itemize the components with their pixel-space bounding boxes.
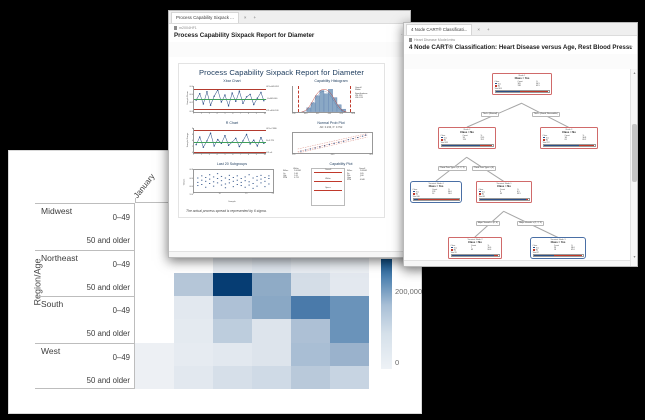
heatmap-cell-r7-c1[interactable] bbox=[174, 366, 213, 389]
legend-swatch-icon bbox=[533, 249, 536, 251]
heatmap-cell-r7-c5[interactable] bbox=[330, 366, 369, 389]
heatmap-cell-r5-c1[interactable] bbox=[174, 319, 213, 342]
heatmap-cell-r5-c5[interactable] bbox=[330, 319, 369, 342]
report-title: Process Capability Sixpack Report for Di… bbox=[179, 64, 384, 77]
minitab-report-body: Process Capability Sixpack Report for Di… bbox=[169, 57, 410, 257]
x-tick: 5 bbox=[224, 113, 225, 115]
heatmap-cell-r5-c2[interactable] bbox=[213, 319, 252, 342]
cart-node-table: ClassCount%Yes16554.5No13845.5 bbox=[495, 81, 550, 88]
close-icon[interactable]: × bbox=[242, 15, 249, 20]
chart-subtitle: AD: 0.233, P: 0.792 bbox=[283, 126, 379, 129]
x-tick: 595 bbox=[292, 154, 295, 156]
legend-swatch-icon bbox=[495, 85, 498, 87]
heatmap-cell-r7-c4[interactable] bbox=[291, 366, 330, 389]
heatmap-subrow-label: 0–49 bbox=[113, 306, 130, 315]
legend-swatch-icon bbox=[413, 193, 416, 195]
cart-node-bar bbox=[479, 198, 530, 201]
sixpack-report-card: Process Capability Sixpack Report for Di… bbox=[178, 63, 385, 218]
legend-swatch-icon bbox=[451, 249, 454, 251]
x-tick: 1 bbox=[193, 113, 194, 115]
center-line-label: R=3.729 bbox=[266, 140, 280, 142]
chart-plot-area bbox=[193, 86, 266, 113]
chart-title: Xbar Chart bbox=[184, 79, 280, 84]
heatmap-subrow-label: 50 and older bbox=[87, 236, 130, 245]
cart-node-bar bbox=[451, 254, 500, 257]
tab-process-capability[interactable]: Process Capability Sixpack ... bbox=[171, 12, 239, 23]
cart-classification-window[interactable]: 4 Node CART® Classificati... × + Heart D… bbox=[403, 22, 638, 267]
legend-swatch-icon bbox=[543, 139, 546, 141]
chart-capability-histogram: Capability Histogram bbox=[283, 79, 379, 118]
tab-cart-classification[interactable]: 4 Node CART® Classificati... bbox=[406, 24, 472, 35]
heatmap-column-header-january: January bbox=[132, 172, 157, 200]
scroll-up-icon[interactable]: ▴ bbox=[632, 70, 637, 75]
cart-node-table: ClassCount%Yes3630.8No8169.2 bbox=[543, 135, 596, 142]
vertical-scrollbar[interactable]: ▴ ▾ bbox=[630, 69, 637, 266]
legend-swatch-icon bbox=[533, 247, 536, 249]
heatmap-row-group: West 0–49 50 and older bbox=[35, 343, 134, 390]
x-tick: 8 bbox=[248, 113, 249, 115]
heatmap-row-label-axis: Midwest 0–49 50 and older Northeast 0–49… bbox=[35, 203, 135, 389]
scroll-down-icon[interactable]: ▾ bbox=[632, 254, 637, 259]
x-tick: 600 bbox=[304, 113, 307, 115]
cart-path-text: Heart Disease Model.mtw bbox=[414, 38, 455, 42]
report-footnote: The actual process spread is represented… bbox=[186, 209, 267, 213]
cart-node-table: ClassCount%Yes36.5No4393.5 bbox=[479, 189, 530, 196]
x-tick: 600 bbox=[331, 154, 334, 156]
chart-r-chart: R Chart Sample Range 8 6 4 2 0 bbox=[184, 121, 280, 160]
chart-title: R Chart bbox=[184, 121, 280, 126]
heatmap-subrow-label: 50 and older bbox=[87, 376, 130, 385]
ucl-label: UCL=7.880 bbox=[266, 128, 280, 130]
heatmap-cell-r3-c1[interactable] bbox=[174, 273, 213, 296]
heatmap-cell-r6-c0[interactable] bbox=[135, 343, 174, 366]
tab-label: Process Capability Sixpack ... bbox=[176, 15, 234, 20]
heatmap-color-legend: 200,000 0 bbox=[381, 259, 419, 369]
chart-xbar-chart: Xbar Chart Sample Mean 606 604 602 600 bbox=[184, 79, 280, 118]
cart-tree-canvas: Thal = (Normal)Thal = (Fixed, Reversible… bbox=[404, 69, 637, 266]
cart-edge-label: Thal = (Fixed, Reversible) bbox=[532, 112, 560, 117]
x-tick: 8 bbox=[248, 154, 249, 156]
heatmap-cell-r4-c0[interactable] bbox=[135, 296, 174, 319]
heatmap-row-group: South 0–49 50 and older bbox=[35, 296, 134, 343]
tab-label: 4 Node CART® Classificati... bbox=[411, 27, 467, 32]
heatmap-group-label: West bbox=[41, 346, 60, 356]
minitab-header-title: Process Capability Sixpack Report for Di… bbox=[174, 32, 405, 39]
heatmap-cell-r7-c3[interactable] bbox=[252, 366, 291, 389]
chart-plot-area bbox=[193, 128, 266, 155]
heatmap-cell-r4-c1[interactable] bbox=[174, 296, 213, 319]
legend-swatch-icon bbox=[495, 83, 498, 85]
heatmap-cell-r5-c4[interactable] bbox=[291, 319, 330, 342]
minitab-path-text: m2004HF1 bbox=[179, 26, 197, 30]
add-tab-icon[interactable]: + bbox=[251, 15, 258, 20]
cart-node-table: ClassCount%Yes12690.0No1410.0 bbox=[413, 189, 460, 196]
histogram-legend: Overall Within Specifications LSL 593 US… bbox=[355, 87, 379, 99]
cart-node-bar bbox=[543, 144, 596, 147]
heatmap-cell-r5-c0[interactable] bbox=[135, 319, 174, 342]
x-tick: 5 bbox=[224, 154, 225, 156]
overall-heading: Overall bbox=[312, 169, 344, 171]
scrollbar-thumb[interactable] bbox=[632, 124, 637, 182]
heatmap-cell-r5-c3[interactable] bbox=[252, 319, 291, 342]
x-tick: 4 bbox=[217, 154, 218, 156]
chart-x-ticks: 5 10 15 20 bbox=[193, 193, 274, 198]
chart-control-limits: UCL=7.880 R=3.729 LCL=0 bbox=[266, 128, 280, 155]
table-row: PPM0.711 bbox=[283, 177, 309, 179]
cart-node-root[interactable]: Node 1Class = YesClassCount%Yes16554.5No… bbox=[492, 73, 552, 95]
horizontal-scrollbar[interactable] bbox=[169, 251, 403, 257]
document-icon bbox=[409, 38, 412, 42]
chart-title: Capability Plot bbox=[303, 162, 379, 167]
cart-edge-label: Major Vessels = (0, 4) bbox=[476, 221, 501, 226]
x-tick: 2 bbox=[201, 113, 202, 115]
x-tick: 15 bbox=[245, 193, 247, 195]
cart-worksheet-path: Heart Disease Model.mtw bbox=[409, 38, 632, 42]
capability-plot-area: Overall Within Specs bbox=[311, 168, 345, 206]
x-tick: 10 bbox=[264, 113, 266, 115]
probplot-series bbox=[293, 133, 372, 154]
heatmap-group-label: South bbox=[41, 299, 63, 309]
sixpack-chart-grid: Xbar Chart Sample Mean 606 604 602 600 bbox=[184, 79, 379, 201]
histogram-series bbox=[293, 86, 355, 112]
heatmap-cell-r6-c2[interactable] bbox=[213, 343, 252, 366]
cart-node-bar bbox=[413, 198, 460, 201]
cart-header: Heart Disease Model.mtw 4 Node CART® Cla… bbox=[404, 36, 637, 54]
legend-within: Within bbox=[355, 89, 379, 91]
x-tick: 7 bbox=[240, 154, 241, 156]
subgroup-scatter bbox=[194, 170, 273, 192]
cart-node-bar bbox=[533, 254, 584, 257]
chart-last-20-subgroups: Last 20 Subgroups Values 608 604 600 596 bbox=[184, 162, 280, 201]
center-line-label: _X=603.000 bbox=[266, 98, 280, 100]
cart-node-bar bbox=[441, 144, 494, 147]
heatmap-cell-r3-c4[interactable] bbox=[291, 273, 330, 296]
chart-title: Capability Histogram bbox=[283, 79, 379, 84]
chart-plot-area bbox=[292, 86, 355, 113]
heatmap-cell-r3-c0[interactable] bbox=[135, 273, 174, 296]
minitab-tab-strip[interactable]: Process Capability Sixpack ... × + bbox=[169, 11, 410, 24]
heatmap-cell-r7-c0[interactable] bbox=[135, 366, 174, 389]
cart-edge-label: Major Vessels = (1, 2, 3) bbox=[517, 221, 544, 226]
heatmap-group-label: Midwest bbox=[41, 206, 72, 216]
legend-swatch-icon bbox=[479, 193, 482, 195]
table-row: PPM0.940 bbox=[347, 179, 377, 181]
heatmap-subrow-label: 0–49 bbox=[113, 353, 130, 362]
cart-node-t2[interactable]: Terminal Node 1Class = NoClassCount%Yes3… bbox=[476, 181, 532, 203]
chart-capability-plot: Capability Plot Within StDev2.00541 Cp1.… bbox=[283, 162, 379, 201]
heatmap-legend-gradient bbox=[381, 259, 392, 369]
heatmap-subrow-label: 0–49 bbox=[113, 260, 130, 269]
chart-normal-prob-plot: Normal Prob Plot AD: 0.233, P: 0.792 bbox=[283, 121, 379, 160]
heatmap-subrow-label: 0–49 bbox=[113, 213, 130, 222]
heatmap-cell-r6-c4[interactable] bbox=[291, 343, 330, 366]
cart-node-t3[interactable]: Terminal Node 2Class = NoClassCount%Yes7… bbox=[448, 237, 502, 259]
heatmap-legend-max-label: 200,000 bbox=[395, 287, 422, 296]
heatmap-cell-r4-c2[interactable] bbox=[213, 296, 252, 319]
lcl-label: LCL=0 bbox=[266, 152, 280, 154]
close-icon[interactable]: × bbox=[475, 27, 482, 32]
chart-x-ticks: 598 600 602 604 606 608 bbox=[292, 113, 355, 118]
chart-control-limits: UCL=605.891 _X=603.000 LCL=600.109 bbox=[266, 86, 280, 113]
heatmap-cell-r3-c3[interactable] bbox=[252, 273, 291, 296]
overflow-menu-icon[interactable]: ⋯ bbox=[628, 44, 633, 50]
heatmap-row-group: Midwest 0–49 50 and older bbox=[35, 203, 134, 250]
x-tick: 606 bbox=[340, 113, 343, 115]
legend-usl: USL 613 bbox=[355, 97, 379, 99]
x-tick: 9 bbox=[256, 113, 257, 115]
cart-edge-label: Chest Pain Type = (4) bbox=[472, 166, 497, 171]
chart-x-label: Sample bbox=[184, 201, 280, 203]
lcl-label: LCL=600.109 bbox=[266, 110, 280, 112]
heatmap-cell-r7-c2[interactable] bbox=[213, 366, 252, 389]
heatmap-cell-r4-c4[interactable] bbox=[291, 296, 330, 319]
x-tick: 598 bbox=[292, 113, 295, 115]
legend-swatch-icon bbox=[451, 247, 454, 249]
cart-tab-strip[interactable]: 4 Node CART® Classificati... × + bbox=[404, 23, 637, 36]
x-tick: 9 bbox=[256, 154, 257, 156]
rchart-series bbox=[194, 128, 266, 154]
heatmap-legend-min-label: 0 bbox=[395, 358, 399, 367]
x-tick: 10 bbox=[264, 154, 266, 156]
heatmap-group-label: Northeast bbox=[41, 253, 78, 263]
x-tick: 5 bbox=[193, 193, 194, 195]
cart-node-t1[interactable]: Terminal Node 4Class = YesClassCount%Yes… bbox=[410, 181, 462, 203]
cart-node-bar bbox=[495, 90, 550, 93]
x-tick: 2 bbox=[201, 154, 202, 156]
x-tick: 10 bbox=[218, 193, 220, 195]
cart-node-table: ClassCount%Yes3923.9No12476.1 bbox=[441, 135, 494, 142]
chart-y-ticks: 608 604 600 596 bbox=[184, 169, 193, 196]
x-tick: 1 bbox=[193, 154, 194, 156]
chart-x-ticks: 1 2 3 4 5 6 7 8 9 10 bbox=[193, 113, 266, 118]
heatmap-cell-r6-c3[interactable] bbox=[252, 343, 291, 366]
legend-swatch-icon bbox=[479, 191, 482, 193]
heatmap-cell-r3-c2[interactable] bbox=[213, 273, 252, 296]
heatmap-row-group: Northeast 0–49 50 and older bbox=[35, 250, 134, 297]
chart-plot-area bbox=[292, 132, 373, 155]
cart-node-table: ClassCount%Yes2958.0No1842.0 bbox=[533, 245, 584, 252]
horizontal-scrollbar[interactable] bbox=[404, 260, 630, 266]
chart-x-ticks: 595 600 605 bbox=[292, 154, 373, 159]
chart-x-ticks: 1 2 3 4 5 6 7 8 9 10 bbox=[193, 154, 266, 159]
capability-within-stats: Within StDev2.00541 Cp1.66 Cpk1.61 PPM0.… bbox=[283, 168, 309, 179]
heatmap-subrow-label: 50 and older bbox=[87, 329, 130, 338]
cart-node-n2[interactable]: Node 2Class = NoClassCount%Yes3923.9No12… bbox=[438, 127, 496, 149]
cart-edge-label: Chest Pain Type = (1, 2, 3) bbox=[438, 166, 467, 171]
heatmap-column-tick bbox=[135, 198, 136, 202]
x-tick: 6 bbox=[232, 154, 233, 156]
chart-title: Last 20 Subgroups bbox=[184, 162, 280, 167]
capability-overall-stats: Overall StDev2.02044 Pp1.65 Ppk1.60 Cpm*… bbox=[347, 168, 377, 181]
specs-heading: Specs bbox=[312, 187, 344, 189]
legend-swatch-icon bbox=[441, 139, 444, 141]
x-tick: 604 bbox=[328, 113, 331, 115]
cart-node-t4[interactable]: Terminal Node 3Class = YesClassCount%Yes… bbox=[530, 237, 586, 259]
chart-y-ticks: 8 6 4 2 0 bbox=[184, 128, 193, 155]
within-heading-2: Within bbox=[312, 178, 344, 180]
legend-swatch-icon bbox=[441, 137, 444, 139]
x-tick: 20 bbox=[272, 193, 274, 195]
minitab-worksheet-path: m2004HF1 bbox=[174, 26, 405, 30]
heatmap-cell-r4-c3[interactable] bbox=[252, 296, 291, 319]
x-tick: 3 bbox=[209, 113, 210, 115]
ucl-label: UCL=605.891 bbox=[266, 86, 280, 88]
add-tab-icon[interactable]: + bbox=[485, 27, 492, 32]
cart-tree-body: Thal = (Normal)Thal = (Fixed, Reversible… bbox=[404, 69, 637, 266]
heatmap-cell-r6-c5[interactable] bbox=[330, 343, 369, 366]
x-tick: 4 bbox=[217, 113, 218, 115]
cart-node-n3[interactable]: Node 3Class = NoClassCount%Yes3630.8No81… bbox=[540, 127, 598, 149]
cart-edge-label: Thal = (Normal) bbox=[481, 112, 500, 117]
within-stats-table: StDev2.00541 Cp1.66 Cpk1.61 PPM0.711 bbox=[283, 170, 309, 179]
chart-plot-area bbox=[193, 169, 274, 193]
x-tick: 602 bbox=[316, 113, 319, 115]
legend-swatch-icon bbox=[413, 191, 416, 193]
legend-swatch-icon bbox=[543, 137, 546, 139]
minitab-report-window[interactable]: Process Capability Sixpack ... × + m2004… bbox=[168, 10, 411, 258]
x-tick: 608 bbox=[352, 113, 355, 115]
x-tick: 6 bbox=[232, 113, 233, 115]
heatmap-cell-r6-c1[interactable] bbox=[174, 343, 213, 366]
x-tick: 3 bbox=[209, 154, 210, 156]
heatmap-cell-r4-c5[interactable] bbox=[330, 296, 369, 319]
x-tick: 7 bbox=[240, 113, 241, 115]
heatmap-subrow-label: 50 and older bbox=[87, 283, 130, 292]
heatmap-cell-r3-c5[interactable] bbox=[330, 273, 369, 296]
x-tick: 605 bbox=[370, 154, 373, 156]
cart-node-table: ClassCount%Yes710.0No6390.0 bbox=[451, 245, 500, 252]
minitab-header: m2004HF1 Process Capability Sixpack Repo… bbox=[169, 24, 410, 42]
document-icon bbox=[174, 26, 177, 30]
cart-header-title: 4 Node CART® Classification: Heart Disea… bbox=[409, 44, 632, 51]
chart-y-ticks: 606 604 602 600 bbox=[184, 86, 193, 113]
overall-stats-table: StDev2.02044 Pp1.65 Ppk1.60 Cpm* PPM0.94… bbox=[347, 170, 377, 181]
